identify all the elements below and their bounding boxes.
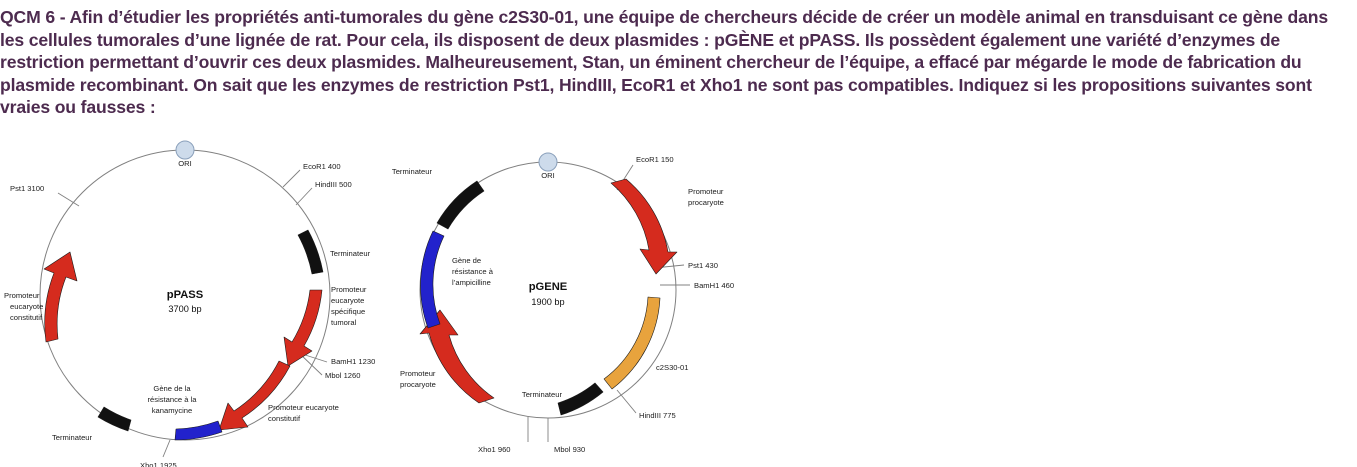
ppass-xho1-label: Xho1 1925 [140, 461, 177, 467]
pgene-terminateur-bottom-label: Terminateur [522, 390, 563, 399]
ppass-ecor1-tick [283, 170, 300, 187]
pgene-ori-icon [539, 153, 557, 171]
ppass-ori-label: ORI [178, 159, 192, 168]
pgene-promoteur-bottom-line1: Promoteur [400, 369, 436, 378]
pgene-ecor1-label: EcoR1 150 [636, 155, 674, 164]
ppass-promoteur-constitutif-line1: Promoteur eucaryote [268, 403, 339, 412]
ppass-mbol-label: Mbol 1260 [325, 371, 360, 380]
ppass-promoteur-left-line1: Promoteur [4, 291, 40, 300]
ppass-xho1-tick [163, 440, 170, 457]
pgene-feature-promoteur-procaryote-top [611, 179, 677, 274]
pgene-ori-label: ORI [541, 171, 555, 180]
pgene-xho1-label: Xho1 960 [478, 445, 511, 454]
pgene-ampicilline-line2: résistance à [452, 267, 494, 276]
pgene-pst1-label: Pst1 430 [688, 261, 718, 270]
ppass-terminateur-right-label: Terminateur [330, 249, 371, 258]
ppass-promoteur-tumoral-line1: Promoteur [331, 285, 367, 294]
ppass-pst1-label: Pst1 3100 [10, 184, 44, 193]
pgene-ampicilline-line1: Gène de [452, 256, 481, 265]
pgene-size-label: 1900 bp [531, 297, 564, 307]
ppass-ori-icon [176, 141, 194, 159]
pgene-feature-c2s30-01-gene [604, 297, 660, 389]
question-text: QCM 6 - Afin d’étudier les propriétés an… [0, 6, 1348, 119]
ppass-feature-promoteur-eucaryote-left [44, 252, 77, 342]
ppass-size-label: 3700 bp [168, 304, 201, 314]
pgene-mbol-label: Mbol 930 [554, 445, 585, 454]
ppass-bamh1-label: BamH1 1230 [331, 357, 375, 366]
pgene-ampicilline-line3: l’ampicilline [452, 278, 491, 287]
plasmid-map-ppass: ORI pPASS 3700 bp EcoR1 400 HindIII 500 … [4, 141, 375, 467]
ppass-hindiii-tick [296, 188, 312, 205]
ppass-kanamycine-line1: Gène de la [153, 384, 191, 393]
pgene-bamh1-label: BamH1 460 [694, 281, 734, 290]
ppass-promoteur-tumoral-line3: spécifique [331, 307, 365, 316]
ppass-ecor1-label: EcoR1 400 [303, 162, 341, 171]
ppass-name-label: pPASS [167, 289, 204, 301]
ppass-promoteur-left-line2: eucaryote [10, 302, 43, 311]
ppass-promoteur-constitutif-line2: constitutif [268, 414, 301, 423]
pgene-feature-terminateur-top [437, 181, 484, 229]
pgene-hindiii-tick [617, 390, 636, 413]
ppass-feature-promoteur-tumoral [284, 290, 322, 366]
pgene-hindiii-label: HindIII 775 [639, 411, 676, 420]
plasmid-map-pgene: ORI pGENE 1900 bp EcoR1 150 Pst1 430 Bam… [392, 153, 734, 454]
ppass-feature-terminateur-right [298, 230, 323, 274]
ppass-promoteur-tumoral-line2: eucaryote [331, 296, 364, 305]
ppass-promoteur-left-line3: constitutif [10, 313, 43, 322]
pgene-gene-name-label: c2S30-01 [656, 363, 689, 372]
plasmid-maps-figure: ORI pPASS 3700 bp EcoR1 400 HindIII 500 … [0, 130, 800, 467]
ppass-kanamycine-line2: résistance à la [148, 395, 198, 404]
pgene-promoteur-top-line2: procaryote [688, 198, 724, 207]
pgene-name-label: pGENE [529, 281, 568, 293]
ppass-terminateur-left-label: Terminateur [52, 433, 93, 442]
pgene-feature-terminateur-bottom [558, 383, 603, 415]
ppass-kanamycine-line3: kanamycine [152, 406, 193, 415]
ppass-feature-terminateur-left [98, 407, 131, 431]
pgene-terminateur-top-label: Terminateur [392, 167, 433, 176]
ppass-promoteur-tumoral-line4: tumoral [331, 318, 357, 327]
pgene-promoteur-bottom-line2: procaryote [400, 380, 436, 389]
pgene-promoteur-top-line1: Promoteur [688, 187, 724, 196]
ppass-hindiii-label: HindIII 500 [315, 180, 352, 189]
